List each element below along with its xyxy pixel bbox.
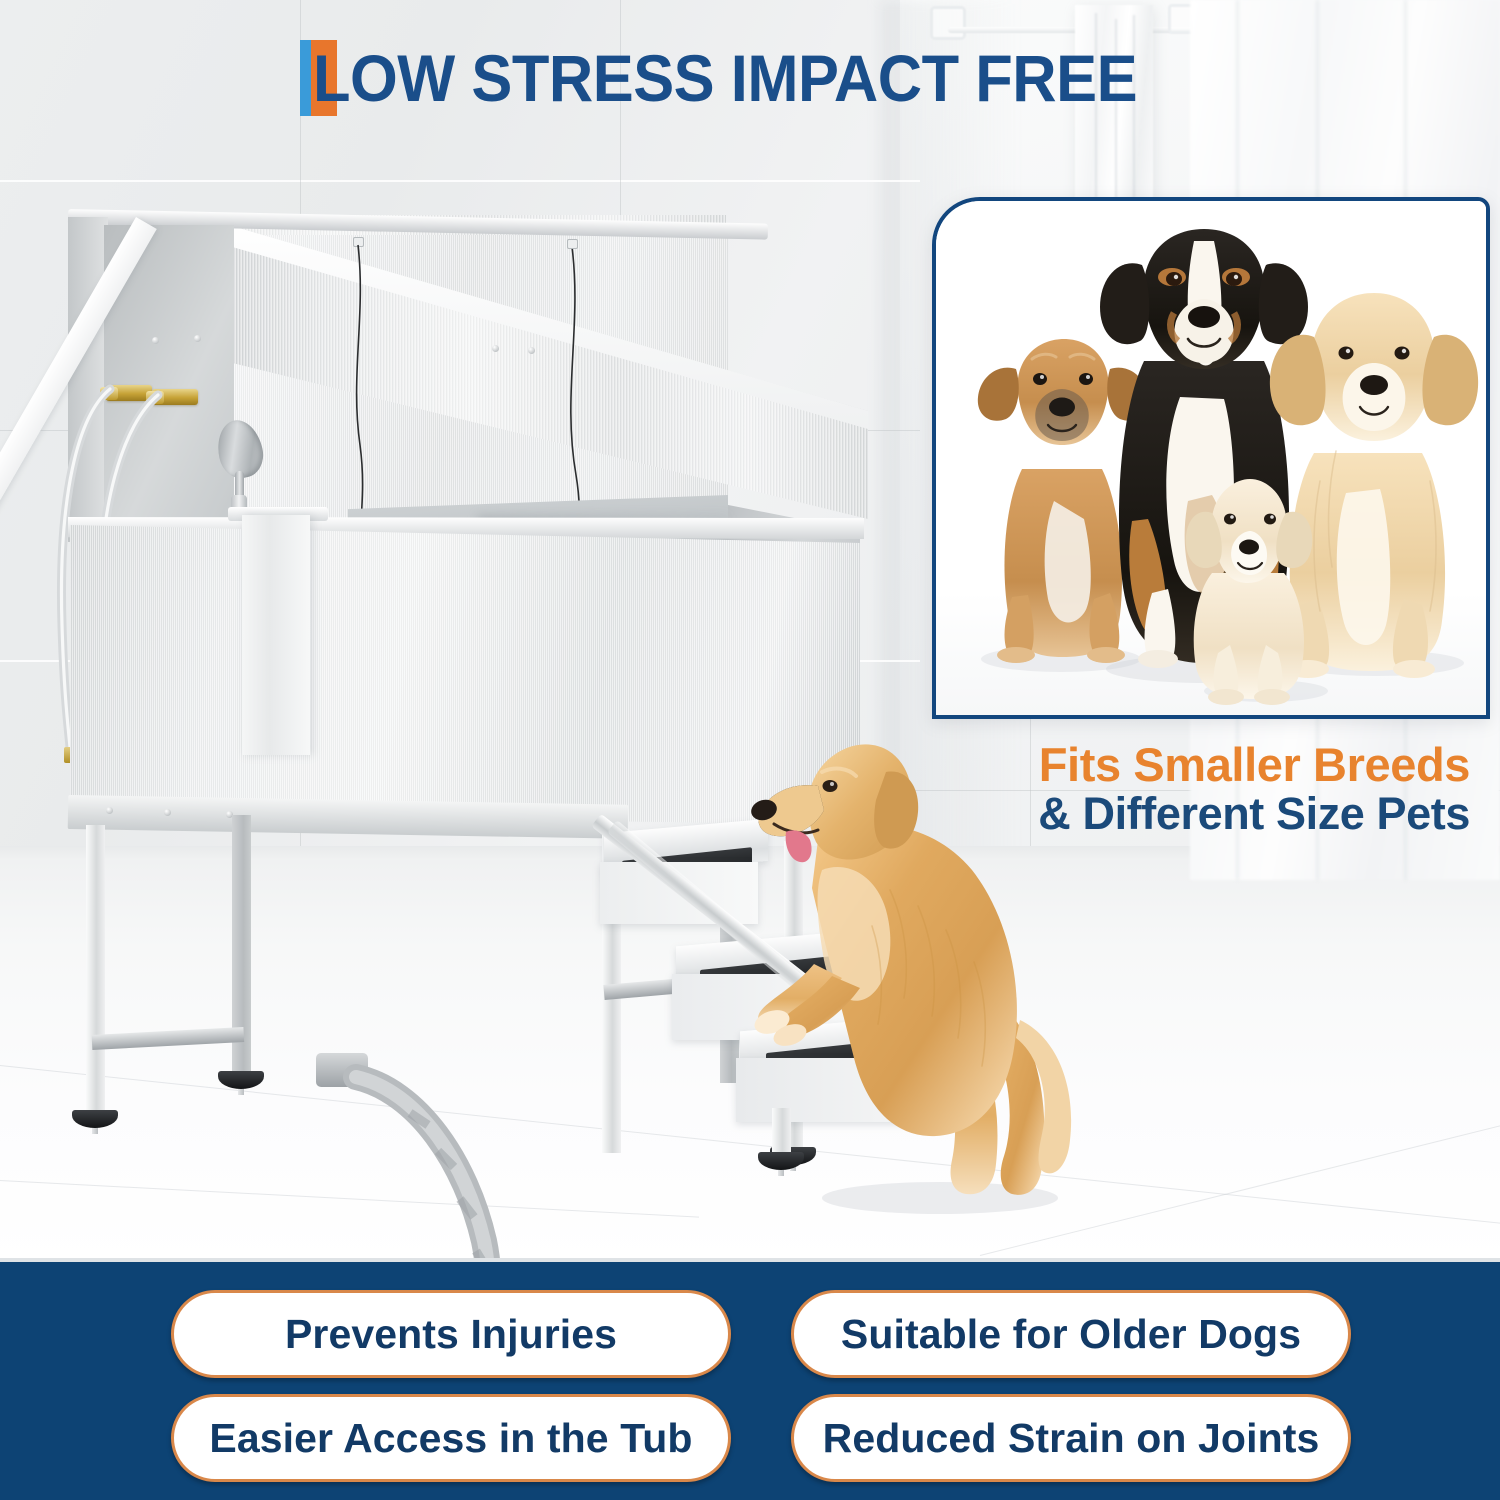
tile-seam <box>0 180 920 182</box>
inset-photo-frame <box>932 197 1490 719</box>
feature-pill-reduced-strain[interactable]: Reduced Strain on Joints <box>791 1394 1351 1482</box>
stand-crossbar <box>92 1027 245 1050</box>
inset-caption: Fits Smaller Breeds & Different Size Pet… <box>0 740 1470 838</box>
tether-clip <box>567 239 578 249</box>
caption-line-1: Fits Smaller Breeds <box>0 740 1470 790</box>
product-marketing-image: LOW STRESS IMPACT FREE <box>0 0 1500 1500</box>
caption-line-2: & Different Size Pets <box>0 790 1470 838</box>
leveling-foot <box>72 1110 118 1128</box>
page-title: LOW STRESS IMPACT FREE <box>313 40 1137 116</box>
feature-pill-prevents-injuries[interactable]: Prevents Injuries <box>171 1290 731 1378</box>
feature-pill-easier-access[interactable]: Easier Access in the Tub <box>171 1394 731 1482</box>
towel-rail-bracket-left <box>930 6 966 40</box>
sliding-door-panel <box>242 515 310 755</box>
dogs-group-photo <box>936 201 1486 715</box>
feature-pill-grid: Prevents Injuries Suitable for Older Dog… <box>171 1290 1351 1482</box>
stand-leg-front-left <box>86 825 105 1125</box>
stand-leg-back-left <box>232 815 251 1085</box>
leveling-foot <box>218 1071 264 1089</box>
dog-cream-labrador-puppy <box>1186 479 1312 705</box>
feature-pill-older-dogs[interactable]: Suitable for Older Dogs <box>791 1290 1351 1378</box>
headline-block: LOW STRESS IMPACT FREE <box>0 40 1500 116</box>
